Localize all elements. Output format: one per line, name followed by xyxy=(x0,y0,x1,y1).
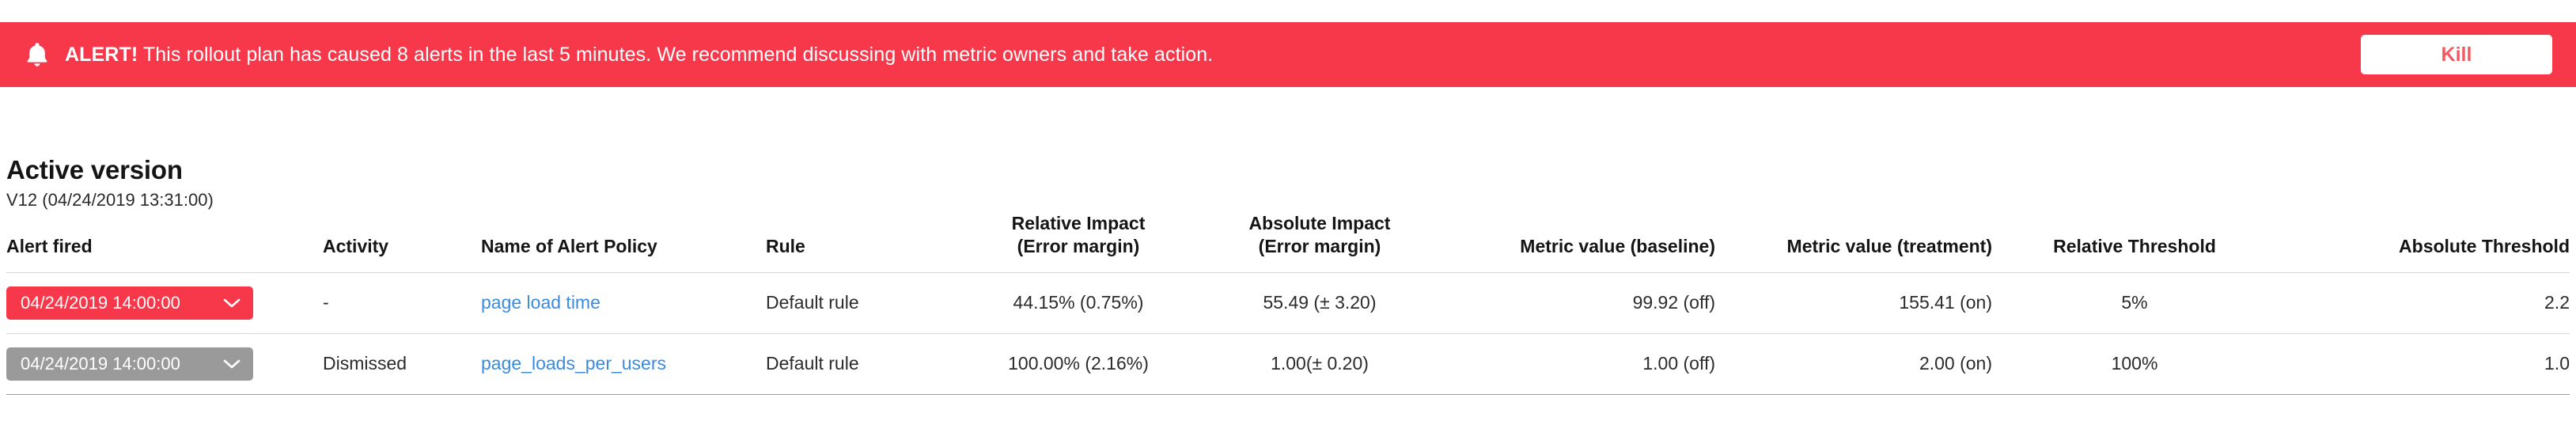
policy-link[interactable]: page load time xyxy=(481,292,600,313)
table-row: 04/24/2019 14:00:00Dismissedpage_loads_p… xyxy=(6,333,2570,394)
cell-policy-name: page_loads_per_users xyxy=(481,333,766,394)
bell-icon xyxy=(24,40,51,70)
active-version-block: Active version V12 (04/24/2019 13:31:00) xyxy=(6,157,214,210)
alert-fired-dropdown[interactable]: 04/24/2019 14:00:00 xyxy=(6,286,253,320)
column-header-absolute-impact-line1: Absolute Impact xyxy=(1201,212,1438,235)
cell-absolute-impact: 55.49 (± 3.20) xyxy=(1201,272,1438,333)
column-header-absolute-impact-line2: (Error margin) xyxy=(1201,235,1438,258)
alert-strong-label: ALERT! xyxy=(65,44,138,66)
cell-policy-name: page load time xyxy=(481,272,766,333)
column-header-absolute-threshold: Absolute Threshold xyxy=(2277,212,2570,272)
cell-activity: - xyxy=(323,272,481,333)
cell-relative-threshold: 5% xyxy=(1992,272,2277,333)
cell-activity: Dismissed xyxy=(323,333,481,394)
column-header-metric-baseline: Metric value (baseline) xyxy=(1438,212,1715,272)
chevron-down-icon[interactable] xyxy=(223,298,241,309)
kill-button[interactable]: Kill xyxy=(2361,35,2552,74)
column-header-alert-fired: Alert fired xyxy=(6,212,323,272)
column-header-policy-name: Name of Alert Policy xyxy=(481,212,766,272)
alert-banner: ALERT! This rollout plan has caused 8 al… xyxy=(0,22,2576,87)
alert-fired-label: 04/24/2019 14:00:00 xyxy=(21,354,180,374)
cell-rule: Default rule xyxy=(766,272,956,333)
alert-fired-dropdown[interactable]: 04/24/2019 14:00:00 xyxy=(6,347,253,381)
cell-absolute-threshold: 2.2 xyxy=(2277,272,2570,333)
page-title: Active version xyxy=(6,157,214,183)
cell-metric-baseline: 99.92 (off) xyxy=(1438,272,1715,333)
table-row: 04/24/2019 14:00:00-page load timeDefaul… xyxy=(6,272,2570,333)
column-header-relative-impact-line2: (Error margin) xyxy=(956,235,1201,258)
alert-fired-label: 04/24/2019 14:00:00 xyxy=(21,293,180,313)
column-header-metric-treatment: Metric value (treatment) xyxy=(1715,212,1992,272)
cell-absolute-threshold: 1.0 xyxy=(2277,333,2570,394)
cell-alert-fired: 04/24/2019 14:00:00 xyxy=(6,272,323,333)
version-subtitle: V12 (04/24/2019 13:31:00) xyxy=(6,190,214,210)
alert-message: ALERT! This rollout plan has caused 8 al… xyxy=(65,44,1213,66)
table-header-row: Alert fired Activity Name of Alert Polic… xyxy=(6,212,2570,272)
column-header-relative-threshold: Relative Threshold xyxy=(1992,212,2277,272)
column-header-activity: Activity xyxy=(323,212,481,272)
alerts-table: Alert fired Activity Name of Alert Polic… xyxy=(6,212,2570,395)
cell-metric-treatment: 155.41 (on) xyxy=(1715,272,1992,333)
chevron-down-icon[interactable] xyxy=(223,358,241,370)
cell-rule: Default rule xyxy=(766,333,956,394)
cell-metric-treatment: 2.00 (on) xyxy=(1715,333,1992,394)
alert-message-text: This rollout plan has caused 8 alerts in… xyxy=(143,44,1213,66)
cell-metric-baseline: 1.00 (off) xyxy=(1438,333,1715,394)
column-header-relative-impact-line1: Relative Impact xyxy=(956,212,1201,235)
policy-link[interactable]: page_loads_per_users xyxy=(481,353,666,374)
column-header-rule: Rule xyxy=(766,212,956,272)
cell-alert-fired: 04/24/2019 14:00:00 xyxy=(6,333,323,394)
cell-relative-impact: 100.00% (2.16%) xyxy=(956,333,1201,394)
cell-relative-impact: 44.15% (0.75%) xyxy=(956,272,1201,333)
table-body: 04/24/2019 14:00:00-page load timeDefaul… xyxy=(6,272,2570,394)
cell-relative-threshold: 100% xyxy=(1992,333,2277,394)
cell-absolute-impact: 1.00(± 0.20) xyxy=(1201,333,1438,394)
column-header-relative-impact: Relative Impact (Error margin) xyxy=(956,212,1201,272)
column-header-absolute-impact: Absolute Impact (Error margin) xyxy=(1201,212,1438,272)
